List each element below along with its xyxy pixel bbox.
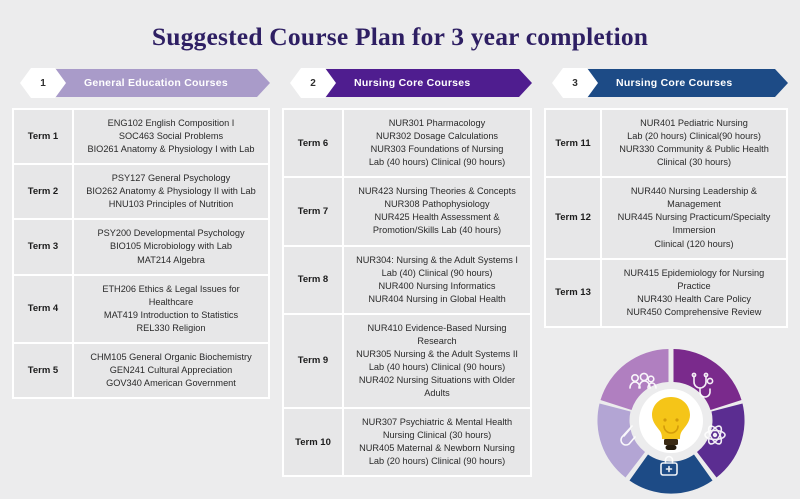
table-row: Term 1 ENG102 English Composition I SOC4… bbox=[12, 108, 270, 163]
course-line: NUR308 Pathophysiology bbox=[349, 198, 525, 211]
course-line: Lab (20 hours) Clinical (90 hours) bbox=[349, 455, 525, 468]
term-label: Term 6 bbox=[284, 110, 344, 176]
course-line: BIO262 Anatomy & Physiology II with Lab bbox=[79, 185, 263, 198]
term-label: Term 5 bbox=[14, 344, 74, 397]
term-courses: NUR440 Nursing Leadership & Management N… bbox=[602, 178, 786, 257]
term-courses: ENG102 English Composition I SOC463 Soci… bbox=[74, 110, 268, 163]
course-line: PSY200 Developmental Psychology bbox=[79, 227, 263, 240]
course-line: NUR400 Nursing Informatics bbox=[349, 280, 525, 293]
term-courses: CHM105 General Organic Biochemistry GEN2… bbox=[74, 344, 268, 397]
term-courses: NUR301 Pharmacology NUR302 Dosage Calcul… bbox=[344, 110, 530, 176]
course-line: MAT214 Algebra bbox=[79, 254, 263, 267]
course-line: ENG102 English Composition I bbox=[79, 117, 263, 130]
course-line: NUR307 Psychiatric & Mental Health bbox=[349, 416, 525, 429]
page-title: Suggested Course Plan for 3 year complet… bbox=[0, 22, 800, 52]
term-table-2: Term 6 NUR301 Pharmacology NUR302 Dosage… bbox=[282, 108, 532, 477]
course-line: NUR401 Pediatric Nursing bbox=[607, 117, 781, 130]
term-courses: NUR423 Nursing Theories & Concepts NUR30… bbox=[344, 178, 530, 244]
course-line: BIO105 Microbiology with Lab bbox=[79, 240, 263, 253]
course-line: SOC463 Social Problems bbox=[79, 130, 263, 143]
section-heading-3: Nursing Core Courses bbox=[616, 77, 732, 89]
table-row: Term 9 NUR410 Evidence-Based Nursing Res… bbox=[282, 313, 532, 407]
table-row: Term 5 CHM105 General Organic Biochemist… bbox=[12, 342, 270, 399]
section-banner-1: General Education Courses bbox=[46, 69, 270, 97]
section-banner-2: Nursing Core Courses bbox=[316, 69, 532, 97]
section-number-1: 1 bbox=[40, 78, 46, 89]
course-line: HNU103 Principles of Nutrition bbox=[79, 198, 263, 211]
term-courses: NUR307 Psychiatric & Mental Health Nursi… bbox=[344, 409, 530, 475]
course-line: Lab (40) Clinical (90 hours) bbox=[349, 267, 525, 280]
term-courses: PSY127 General Psychology BIO262 Anatomy… bbox=[74, 165, 268, 218]
table-row: Term 3 PSY200 Developmental Psychology B… bbox=[12, 218, 270, 273]
course-line: GOV340 American Government bbox=[79, 377, 263, 390]
section-header-1: General Education Courses 1 bbox=[12, 68, 270, 98]
course-line: MAT419 Introduction to Statistics bbox=[79, 309, 263, 322]
medical-bag-segment bbox=[630, 455, 713, 494]
course-line: NUR301 Pharmacology bbox=[349, 117, 525, 130]
term-table-1: Term 1 ENG102 English Composition I SOC4… bbox=[12, 108, 270, 399]
term-label: Term 7 bbox=[284, 178, 344, 244]
course-line: PSY127 General Psychology bbox=[79, 172, 263, 185]
term-label: Term 12 bbox=[546, 178, 602, 257]
course-line: Lab (40 hours) Clinical (90 hours) bbox=[349, 361, 525, 374]
table-row: Term 8 NUR304: Nursing & the Adult Syste… bbox=[282, 245, 532, 313]
course-line: GEN241 Cultural Appreciation bbox=[79, 364, 263, 377]
table-row: Term 2 PSY127 General Psychology BIO262 … bbox=[12, 163, 270, 218]
section-number-3: 3 bbox=[572, 78, 578, 89]
course-line: NUR402 Nursing Situations with Older Adu… bbox=[349, 374, 525, 400]
section-column-2: Nursing Core Courses 2 Term 6 NUR301 Pha… bbox=[282, 68, 532, 477]
term-courses: NUR410 Evidence-Based Nursing Research N… bbox=[344, 315, 530, 407]
decorative-wheel bbox=[596, 346, 746, 496]
section-column-1: General Education Courses 1 Term 1 ENG10… bbox=[12, 68, 270, 477]
course-line: NUR430 Health Care Policy bbox=[607, 293, 781, 306]
table-row: Term 12 NUR440 Nursing Leadership & Mana… bbox=[544, 176, 788, 257]
section-number-2: 2 bbox=[310, 78, 316, 89]
table-row: Term 13 NUR415 Epidemiology for Nursing … bbox=[544, 258, 788, 328]
course-line: Lab (40 hours) Clinical (90 hours) bbox=[349, 156, 525, 169]
term-label: Term 1 bbox=[14, 110, 74, 163]
table-row: Term 4 ETH206 Ethics & Legal Issues for … bbox=[12, 274, 270, 342]
section-header-3: Nursing Core Courses 3 bbox=[544, 68, 788, 98]
term-courses: NUR415 Epidemiology for Nursing Practice… bbox=[602, 260, 786, 326]
course-line: NUR415 Epidemiology for Nursing Practice bbox=[607, 267, 781, 293]
term-courses: NUR304: Nursing & the Adult Systems I La… bbox=[344, 247, 530, 313]
term-label: Term 11 bbox=[546, 110, 602, 176]
section-heading-1: General Education Courses bbox=[84, 77, 228, 89]
course-line: NUR304: Nursing & the Adult Systems I bbox=[349, 254, 525, 267]
section-banner-3: Nursing Core Courses bbox=[578, 69, 788, 97]
course-line: NUR330 Community & Public Health bbox=[607, 143, 781, 156]
course-line: NUR440 Nursing Leadership & Management bbox=[607, 185, 781, 211]
course-line: NUR305 Nursing & the Adult Systems II bbox=[349, 348, 525, 361]
table-row: Term 7 NUR423 Nursing Theories & Concept… bbox=[282, 176, 532, 244]
term-label: Term 8 bbox=[284, 247, 344, 313]
term-courses: NUR401 Pediatric Nursing Lab (20 hours) … bbox=[602, 110, 786, 176]
course-line: NUR423 Nursing Theories & Concepts bbox=[349, 185, 525, 198]
course-line: CHM105 General Organic Biochemistry bbox=[79, 351, 263, 364]
course-line: NUR410 Evidence-Based Nursing Research bbox=[349, 322, 525, 348]
term-label: Term 4 bbox=[14, 276, 74, 342]
course-line: NUR405 Maternal & Newborn Nursing bbox=[349, 442, 525, 455]
term-label: Term 13 bbox=[546, 260, 602, 326]
course-line: NUR450 Comprehensive Review bbox=[607, 306, 781, 319]
term-label: Term 10 bbox=[284, 409, 344, 475]
course-line: BIO261 Anatomy & Physiology I with Lab bbox=[79, 143, 263, 156]
table-row: Term 11 NUR401 Pediatric Nursing Lab (20… bbox=[544, 108, 788, 176]
term-label: Term 3 bbox=[14, 220, 74, 273]
course-line: Clinical (120 hours) bbox=[607, 238, 781, 251]
term-table-3: Term 11 NUR401 Pediatric Nursing Lab (20… bbox=[544, 108, 788, 328]
table-row: Term 10 NUR307 Psychiatric & Mental Heal… bbox=[282, 407, 532, 477]
course-line: REL330 Religion bbox=[79, 322, 263, 335]
section-header-2: Nursing Core Courses 2 bbox=[282, 68, 532, 98]
course-line: Clinical (30 hours) bbox=[607, 156, 781, 169]
section-heading-2: Nursing Core Courses bbox=[354, 77, 470, 89]
term-courses: PSY200 Developmental Psychology BIO105 M… bbox=[74, 220, 268, 273]
table-row: Term 6 NUR301 Pharmacology NUR302 Dosage… bbox=[282, 108, 532, 176]
infographic-page: Suggested Course Plan for 3 year complet… bbox=[0, 0, 800, 499]
course-line: NUR303 Foundations of Nursing bbox=[349, 143, 525, 156]
course-line: Nursing Clinical (30 hours) bbox=[349, 429, 525, 442]
term-label: Term 2 bbox=[14, 165, 74, 218]
course-line: NUR404 Nursing in Global Health bbox=[349, 293, 525, 306]
course-line: NUR425 Health Assessment & Promotion/Ski… bbox=[349, 211, 525, 237]
wheel-graphic bbox=[596, 346, 746, 496]
course-line: Lab (20 hours) Clinical(90 hours) bbox=[607, 130, 781, 143]
course-line: NUR302 Dosage Calculations bbox=[349, 130, 525, 143]
course-line: NUR445 Nursing Practicum/Specialty Immer… bbox=[607, 211, 781, 237]
course-line: ETH206 Ethics & Legal Issues for Healthc… bbox=[79, 283, 263, 309]
term-label: Term 9 bbox=[284, 315, 344, 407]
term-courses: ETH206 Ethics & Legal Issues for Healthc… bbox=[74, 276, 268, 342]
